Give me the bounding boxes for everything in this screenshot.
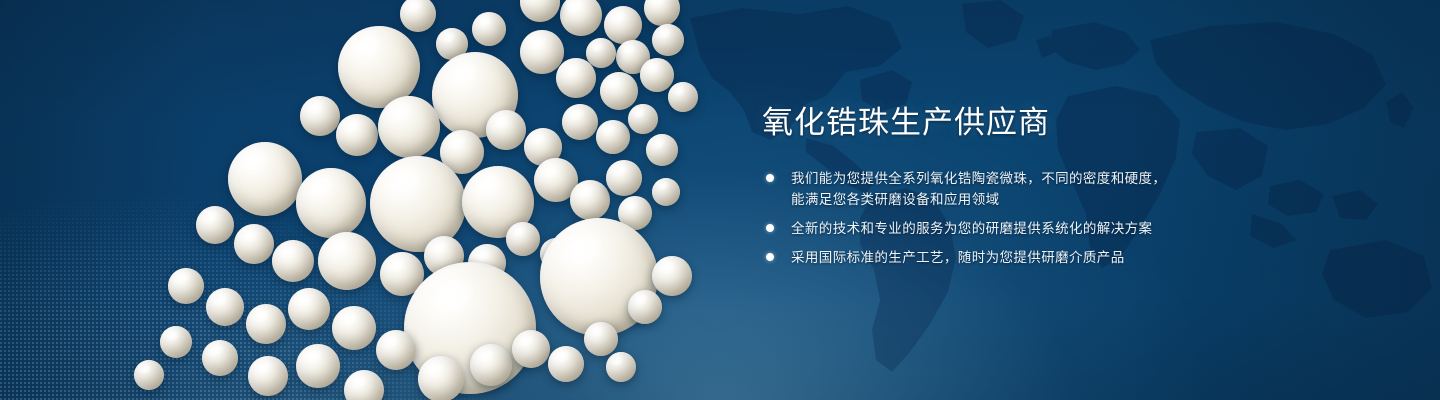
bullet-dot-icon xyxy=(766,174,774,182)
list-item-line: 我们能为您提供全系列氧化锆陶瓷微珠，不同的密度和硬度， xyxy=(791,168,1232,189)
bullet-dot-icon xyxy=(766,253,774,261)
hero-banner: 氧化锆珠生产供应商 我们能为您提供全系列氧化锆陶瓷微珠，不同的密度和硬度， 能满… xyxy=(0,0,1440,400)
list-item: 我们能为您提供全系列氧化锆陶瓷微珠，不同的密度和硬度， 能满足您各类研磨设备和应… xyxy=(762,168,1232,210)
feature-list: 我们能为您提供全系列氧化锆陶瓷微珠，不同的密度和硬度， 能满足您各类研磨设备和应… xyxy=(762,168,1232,268)
banner-copy: 氧化锆珠生产供应商 我们能为您提供全系列氧化锆陶瓷微珠，不同的密度和硬度， 能满… xyxy=(762,104,1232,268)
bullet-dot-icon xyxy=(766,224,774,232)
list-item: 采用国际标准的生产工艺，随时为您提供研磨介质产品 xyxy=(762,247,1232,268)
list-item-line: 采用国际标准的生产工艺，随时为您提供研磨介质产品 xyxy=(791,247,1232,268)
list-item-line: 全新的技术和专业的服务为您的研磨提供系统化的解决方案 xyxy=(791,218,1232,239)
list-item-line: 能满足您各类研磨设备和应用领域 xyxy=(791,189,1232,210)
zirconia-beads-image xyxy=(0,0,720,400)
page-title: 氧化锆珠生产供应商 xyxy=(762,104,1232,143)
list-item: 全新的技术和专业的服务为您的研磨提供系统化的解决方案 xyxy=(762,218,1232,239)
